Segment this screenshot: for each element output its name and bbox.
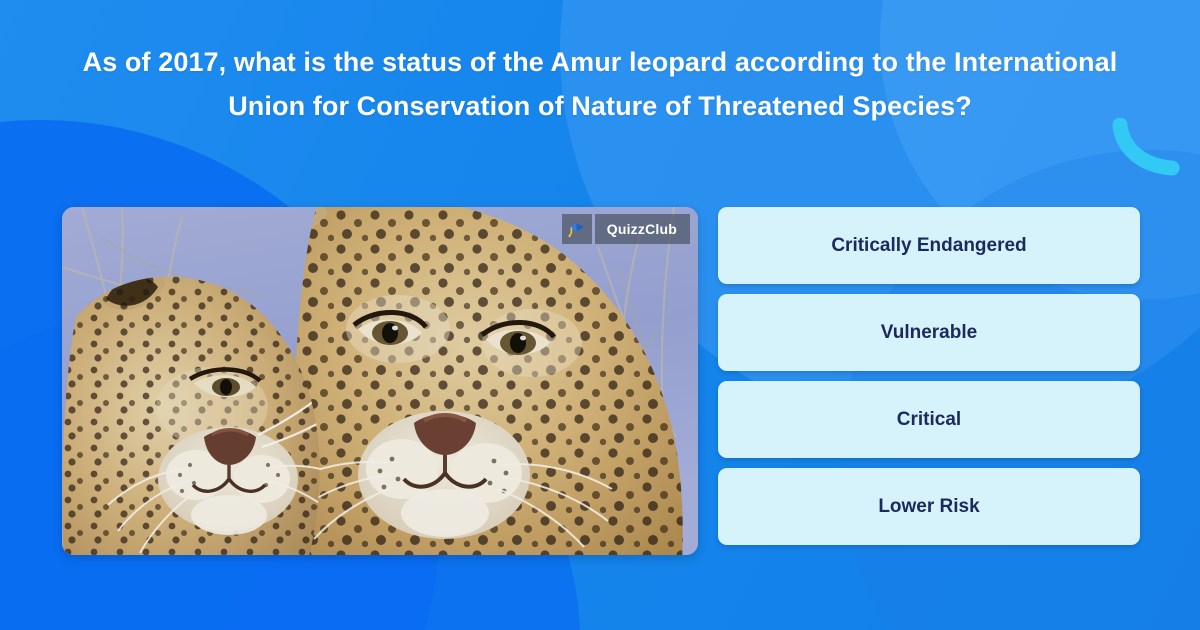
answer-option-4[interactable]: Lower Risk: [718, 468, 1140, 545]
answer-option-2[interactable]: Vulnerable: [718, 294, 1140, 371]
answer-option-1[interactable]: Critically Endangered: [718, 207, 1140, 284]
quiz-question-card: As of 2017, what is the status of the Am…: [0, 0, 1200, 630]
question-image-card: QuizzClub: [62, 207, 698, 555]
question-text: As of 2017, what is the status of the Am…: [60, 40, 1140, 128]
leopard-photo: [62, 207, 698, 555]
watermark-brand-label: QuizzClub: [595, 214, 690, 244]
watermark-badge: QuizzClub: [562, 214, 690, 244]
answer-options-list: Critically Endangered Vulnerable Critica…: [718, 207, 1140, 545]
graduation-cap-icon: [562, 214, 592, 244]
answer-option-3[interactable]: Critical: [718, 381, 1140, 458]
